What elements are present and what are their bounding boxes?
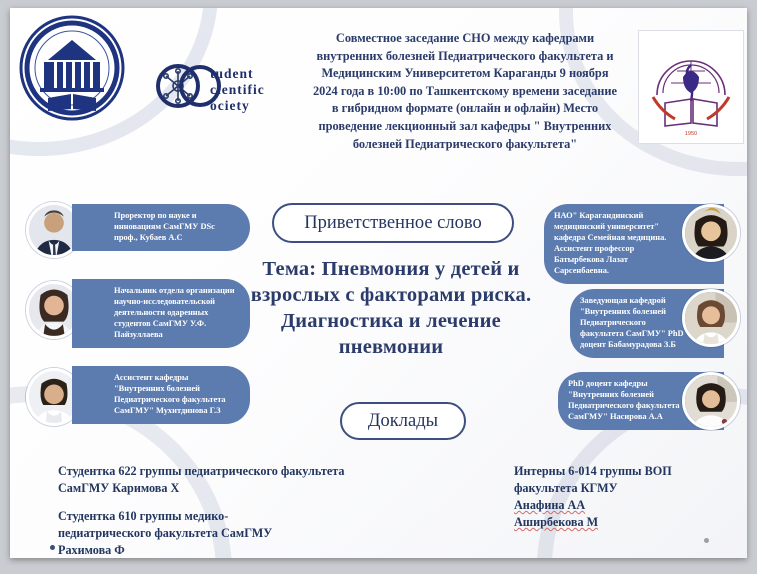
student-entry-2-line1: Студентка 610 группы медико- [58,508,358,525]
speaker-label-left-3: Ассистент кафедры "Внутренних болезней П… [72,366,250,424]
seal-year-left: 1920 [66,111,77,117]
speaker-photo-right-1 [682,204,740,262]
seal-year-right: 1950 [685,131,697,137]
speaker-label-left-2: Начальник отдела организации научно-иссл… [72,279,250,348]
samarkand-university-seal-icon: 1920 [18,14,126,122]
speaker-label-left-1: Проректор по науке и инновациям СамГМУ D… [72,204,250,251]
students-left-block: Студентка 622 группы педиатрического фак… [58,463,358,558]
event-announcement-text: Совместное заседание СНО между кафедрами… [310,30,620,153]
stray-dot-marker [704,538,709,543]
student-entry-1: Студентка 622 группы педиатрического фак… [58,463,358,497]
sss-line-1: tudent [210,66,254,81]
sss-line-3: ociety [210,98,250,113]
student-scientific-society-logo: tudent cientific ociety [150,52,312,124]
speaker-card-left-3: Ассистент кафедры "Внутренних болезней П… [72,366,250,424]
welcome-word-button[interactable]: Приветственное слово [272,203,514,243]
intern-entry-line2: факультета КГМУ [514,480,747,497]
presentation-slide: 1920 tudent cientific ociety Совместное … [10,8,747,558]
student-entry-2-line3: Рахимова Ф [58,543,125,557]
presentation-topic-title: Тема: Пневмония у детей и взрослых с фак… [232,256,550,360]
bullet-dot-icon [50,545,55,550]
intern-name-1: Анафина АА [514,497,747,514]
speaker-photo-right-2 [682,289,740,347]
student-entry-2-line3-wrap: Рахимова Ф [58,542,358,558]
intern-name-2: Аширбекова М [514,514,747,531]
student-entry-2: Студентка 610 группы медико- педиатричес… [58,508,358,558]
karaganda-university-seal-icon: 1950 [638,30,744,144]
intern-entry-line1: Интерны 6-014 группы ВОП [514,463,747,480]
sss-line-2: cientific [210,82,265,97]
speaker-card-left-1: Проректор по науке и инновациям СамГМУ D… [72,204,250,251]
speaker-card-left-2: Начальник отдела организации научно-иссл… [72,279,250,348]
reports-button[interactable]: Доклады [340,402,466,440]
speaker-photo-right-3 [682,372,740,430]
students-right-block: Интерны 6-014 группы ВОП факультета КГМУ… [514,463,747,531]
student-entry-2-line2: педиатрического факультета СамГМУ [58,525,358,542]
